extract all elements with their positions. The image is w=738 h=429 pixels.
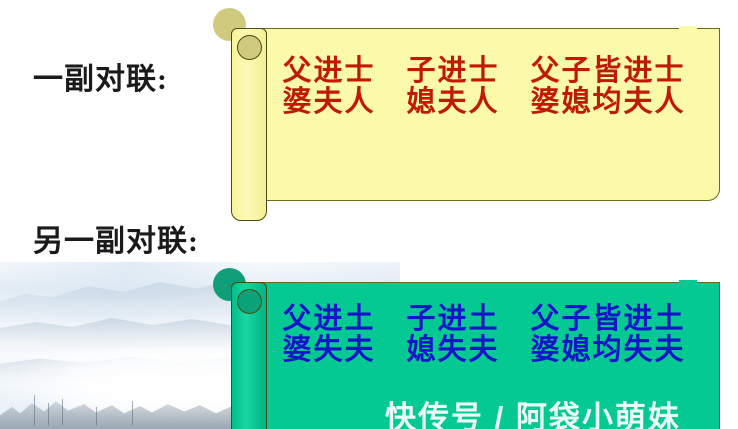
watermark-text: 快传号 / 阿袋小萌妹 — [385, 392, 681, 429]
green-scroll-corner-notch — [679, 280, 697, 298]
bare-twig — [34, 395, 35, 425]
green-couplet-line-2: 婆失夫 媳失夫 婆媳均失夫 — [248, 335, 720, 366]
slide-canvas: 一副对联: 父进士 子进士 父子皆进士 婆夫人 媳夫人 婆媳均夫人 另一副对联:… — [0, 0, 738, 429]
bare-twig — [48, 403, 49, 425]
bare-twig — [62, 399, 63, 425]
label-second-couplet: 另一副对联: — [33, 216, 199, 260]
label-first-couplet: 一副对联: — [33, 54, 168, 98]
green-couplet-line-1: 父进土 子进土 父子皆进土 — [248, 304, 720, 335]
bare-twig — [96, 407, 97, 425]
green-scroll-text: 父进土 子进土 父子皆进土 婆失夫 媳失夫 婆媳均失夫 — [248, 304, 720, 365]
yellow-couplet-line-2: 婆夫人 媳夫人 婆媳均夫人 — [248, 87, 720, 118]
yellow-scroll-corner-notch — [679, 26, 697, 44]
yellow-scroll: 父进士 子进士 父子皆进士 婆夫人 媳夫人 婆媳均夫人 — [213, 8, 725, 216]
yellow-scroll-text: 父进士 子进士 父子皆进士 婆夫人 媳夫人 婆媳均夫人 — [248, 56, 720, 117]
bare-twig — [132, 401, 133, 425]
yellow-couplet-line-1: 父进士 子进士 父子皆进士 — [248, 56, 720, 87]
